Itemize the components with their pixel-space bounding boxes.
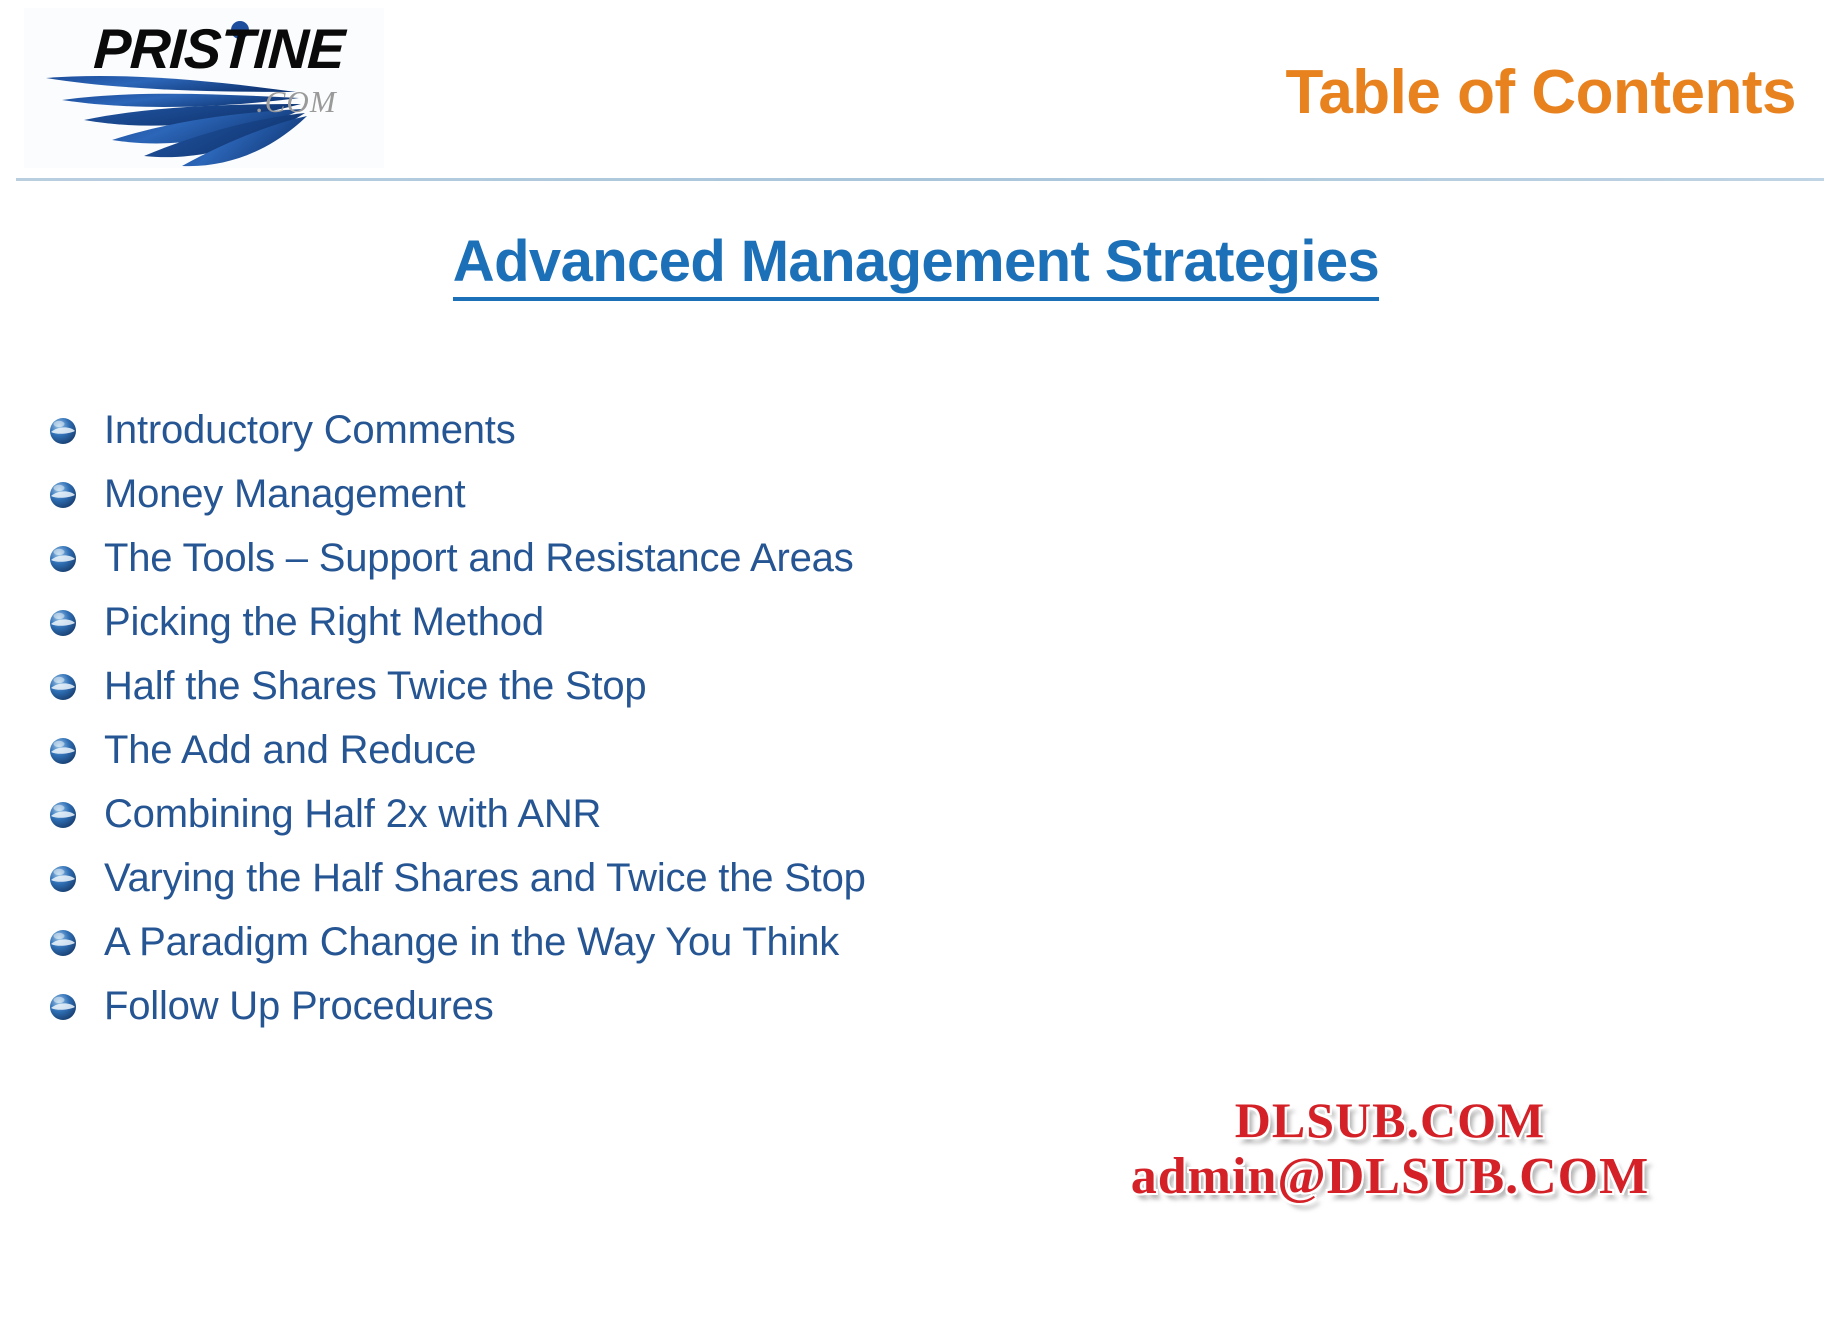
blue-sphere-bullet-icon <box>48 992 78 1022</box>
watermark-site: DLSUB.COM <box>1040 1095 1740 1145</box>
list-item-label: Money Management <box>104 472 465 516</box>
blue-sphere-bullet-icon <box>48 544 78 574</box>
blue-sphere-bullet-icon <box>48 480 78 510</box>
list-item[interactable]: The Add and Reduce <box>48 718 1348 782</box>
svg-text:.COM: .COM <box>256 84 338 119</box>
list-item-label: Introductory Comments <box>104 408 516 452</box>
slide-title: Advanced Management Strategies <box>0 232 1832 301</box>
list-item[interactable]: Varying the Half Shares and Twice the St… <box>48 846 1348 910</box>
slide-root: PRISTINE .COM Table of Contents Advanced… <box>0 0 1832 1335</box>
list-item[interactable]: Follow Up Procedures <box>48 974 1348 1038</box>
slide-header: PRISTINE .COM Table of Contents <box>0 0 1832 182</box>
watermark-email: admin@DLSUB.COM <box>1040 1151 1740 1203</box>
pristine-wing-logo-icon: PRISTINE .COM <box>24 8 384 168</box>
list-item-label: The Tools – Support and Resistance Areas <box>104 536 854 580</box>
blue-sphere-bullet-icon <box>48 608 78 638</box>
page-title: Table of Contents <box>1286 62 1796 124</box>
blue-sphere-bullet-icon <box>48 864 78 894</box>
list-item[interactable]: Half the Shares Twice the Stop <box>48 654 1348 718</box>
list-item[interactable]: The Tools – Support and Resistance Areas <box>48 526 1348 590</box>
blue-sphere-bullet-icon <box>48 800 78 830</box>
list-item[interactable]: Introductory Comments <box>48 398 1348 462</box>
list-item-label: Combining Half 2x with ANR <box>104 792 601 836</box>
list-item-label: Half the Shares Twice the Stop <box>104 664 646 708</box>
table-of-contents-list: Introductory Comments Money Management <box>48 398 1348 1038</box>
list-item[interactable]: A Paradigm Change in the Way You Think <box>48 910 1348 974</box>
blue-sphere-bullet-icon <box>48 672 78 702</box>
list-item-label: Picking the Right Method <box>104 600 544 644</box>
list-item-label: Varying the Half Shares and Twice the St… <box>104 856 866 900</box>
list-item[interactable]: Money Management <box>48 462 1348 526</box>
list-item[interactable]: Combining Half 2x with ANR <box>48 782 1348 846</box>
list-item[interactable]: Picking the Right Method <box>48 590 1348 654</box>
slide-title-text: Advanced Management Strategies <box>453 232 1379 301</box>
list-item-label: Follow Up Procedures <box>104 984 494 1028</box>
blue-sphere-bullet-icon <box>48 416 78 446</box>
blue-sphere-bullet-icon <box>48 736 78 766</box>
watermark: DLSUB.COM admin@DLSUB.COM <box>1040 1095 1740 1203</box>
list-item-label: A Paradigm Change in the Way You Think <box>104 920 839 964</box>
list-item-label: The Add and Reduce <box>104 728 476 772</box>
svg-text:PRISTINE: PRISTINE <box>92 17 348 80</box>
header-divider <box>16 178 1824 181</box>
blue-sphere-bullet-icon <box>48 928 78 958</box>
